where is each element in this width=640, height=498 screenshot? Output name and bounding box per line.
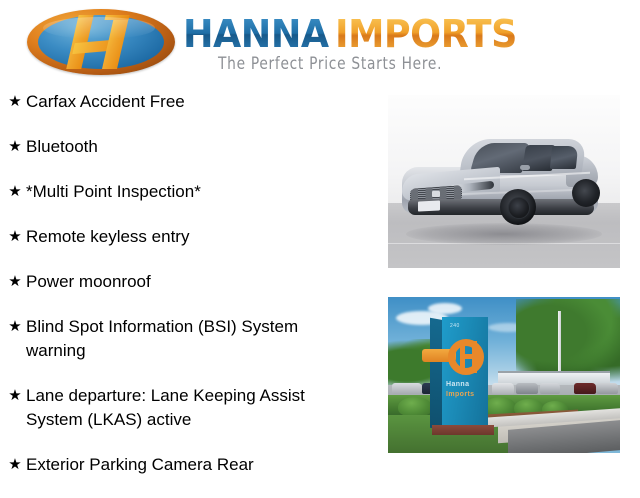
star-bullet-icon: ★ <box>4 384 26 408</box>
vehicle-side-mirror <box>520 165 530 170</box>
brand-header: HANNAIMPORTS The Perfect Price Starts He… <box>0 0 640 88</box>
lot-car <box>596 383 618 394</box>
monument-sign-name-line2: Imports <box>446 391 474 398</box>
feature-label: Carfax Accident Free <box>26 90 376 114</box>
list-item: ★ *Multi Point Inspection* <box>0 180 376 204</box>
monument-logo-h-right <box>472 341 477 373</box>
list-item: ★ Remote keyless entry <box>0 225 376 249</box>
logo-h-hook <box>104 15 131 20</box>
list-item: ★ Blind Spot Information (BSI) System wa… <box>0 315 376 363</box>
dealership-photo[interactable]: 240 Hanna Imports <box>388 297 620 453</box>
feature-label: Power moonroof <box>26 270 376 294</box>
list-item: ★ Bluetooth <box>0 135 376 159</box>
brand-name-imports: IMPORTS <box>335 14 517 54</box>
star-bullet-icon: ★ <box>4 270 26 294</box>
feature-label: Exterior Parking Camera Rear <box>26 453 376 477</box>
list-item: ★ Lane departure: Lane Keeping Assist Sy… <box>0 384 376 432</box>
lot-car <box>574 383 596 394</box>
list-item: ★ Exterior Parking Camera Rear <box>0 453 376 477</box>
vehicle-shadow <box>406 223 602 245</box>
vehicle-rear-wheel <box>572 179 600 207</box>
list-item: ★ Carfax Accident Free <box>0 90 376 114</box>
star-bullet-icon: ★ <box>4 225 26 249</box>
vehicle-feature-list: ★ Carfax Accident Free ★ Bluetooth ★ *Mu… <box>0 90 376 498</box>
monument-sign-base <box>432 425 494 435</box>
brand-wordmark: HANNAIMPORTS <box>183 14 524 54</box>
star-bullet-icon: ★ <box>4 453 26 477</box>
lot-car <box>392 383 422 394</box>
brand-name-hanna: HANNA <box>183 14 329 54</box>
feature-label: Lane departure: Lane Keeping Assist Syst… <box>26 384 376 432</box>
monument-sign-name-line1: Hanna <box>446 381 469 388</box>
lot-car <box>516 383 538 394</box>
vehicle-license-plate <box>418 200 440 211</box>
monument-address-number: 240 <box>450 323 460 329</box>
star-bullet-icon: ★ <box>4 180 26 204</box>
vehicle-front-rim <box>508 197 530 219</box>
cloud <box>428 303 462 314</box>
brand-tagline: The Perfect Price Starts Here. <box>218 54 442 74</box>
bush <box>398 397 432 417</box>
vehicle-rear-window <box>550 146 578 169</box>
hanna-imports-logo-icon <box>27 9 175 75</box>
vehicle-emblem-icon <box>432 191 440 197</box>
feature-label: Bluetooth <box>26 135 376 159</box>
feature-label: Remote keyless entry <box>26 225 376 249</box>
star-bullet-icon: ★ <box>4 135 26 159</box>
lot-car <box>492 383 514 394</box>
feature-label: Blind Spot Information (BSI) System warn… <box>26 315 376 363</box>
lot-car <box>540 383 560 394</box>
star-bullet-icon: ★ <box>4 90 26 114</box>
star-bullet-icon: ★ <box>4 315 26 339</box>
vehicle-photo[interactable] <box>388 95 620 268</box>
feature-label: *Multi Point Inspection* <box>26 180 376 204</box>
list-item: ★ Power moonroof <box>0 270 376 294</box>
logo-h-monogram-icon <box>38 15 164 69</box>
